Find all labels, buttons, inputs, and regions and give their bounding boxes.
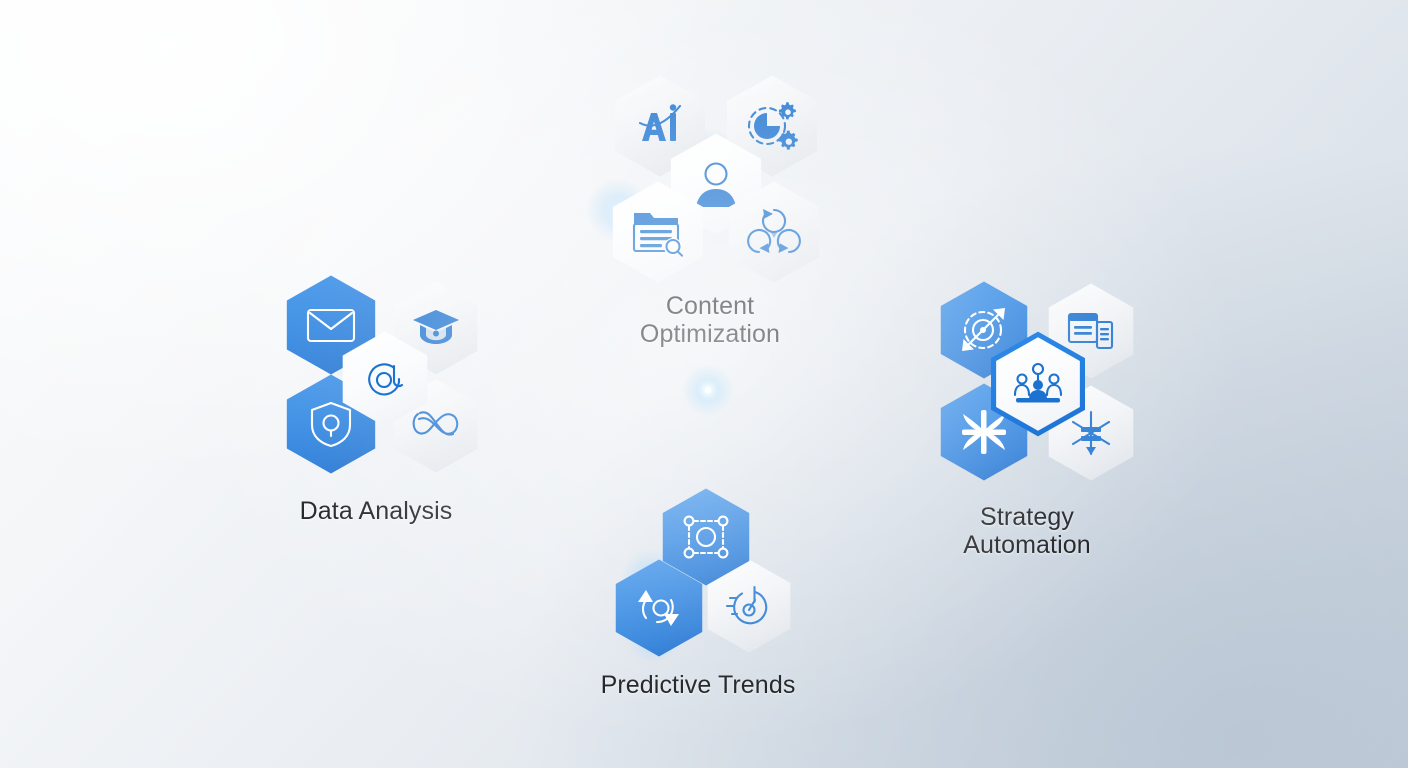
at-target-icon: [361, 355, 409, 403]
hex-engagement-target[interactable]: [340, 330, 430, 428]
team-group-icon: [1013, 361, 1063, 407]
hex-team-collaboration[interactable]: [992, 334, 1084, 434]
speed-timer-icon: [725, 582, 773, 630]
hex-refresh-cycle[interactable]: [613, 558, 705, 658]
cluster-label-predictive-trends: Predictive Trends: [548, 671, 848, 699]
refresh-search-icon: [635, 584, 683, 632]
node-network-icon: [682, 513, 730, 561]
cluster-predictive-trends: Predictive Trends: [0, 0, 1408, 768]
diagram-canvas: Content Optimization: [0, 0, 1408, 768]
